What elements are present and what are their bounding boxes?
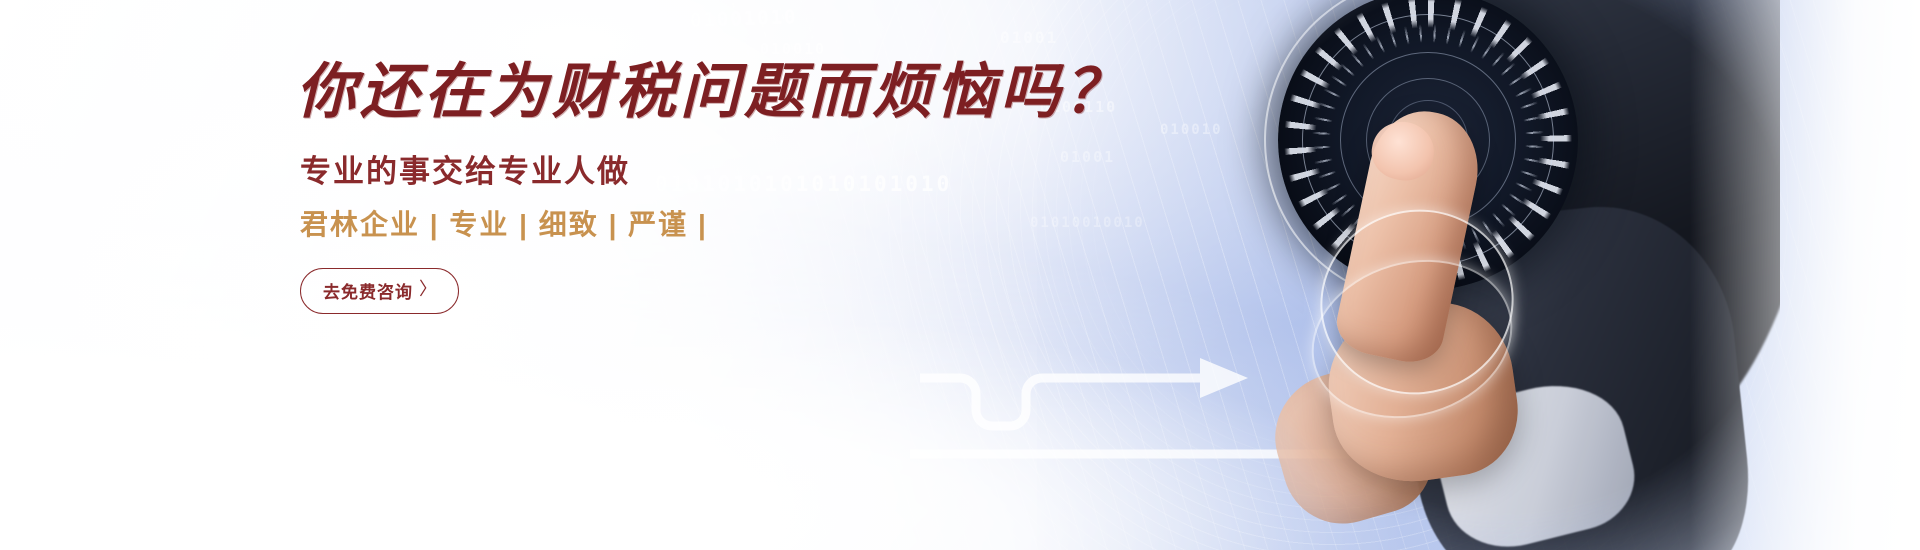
free-consultation-button[interactable]: 去免费咨询 〉 bbox=[300, 268, 459, 314]
hero-banner: 01001010 010010 01001 0100110 010010 010… bbox=[0, 0, 1920, 550]
cta-label: 去免费咨询 bbox=[323, 278, 413, 303]
banner-subheadline: 专业的事交给专业人做 bbox=[300, 153, 1056, 190]
banner-tagline: 君林企业 | 专业 | 细致 | 严谨 | bbox=[300, 208, 1056, 242]
banner-headline: 你还在为财税问题而烦恼吗？ bbox=[296, 60, 1056, 125]
banner-content: 你还在为财税问题而烦恼吗？ 专业的事交给专业人做 君林企业 | 专业 | 细致 … bbox=[296, 60, 1056, 314]
chevron-right-icon: 〉 bbox=[419, 280, 438, 298]
